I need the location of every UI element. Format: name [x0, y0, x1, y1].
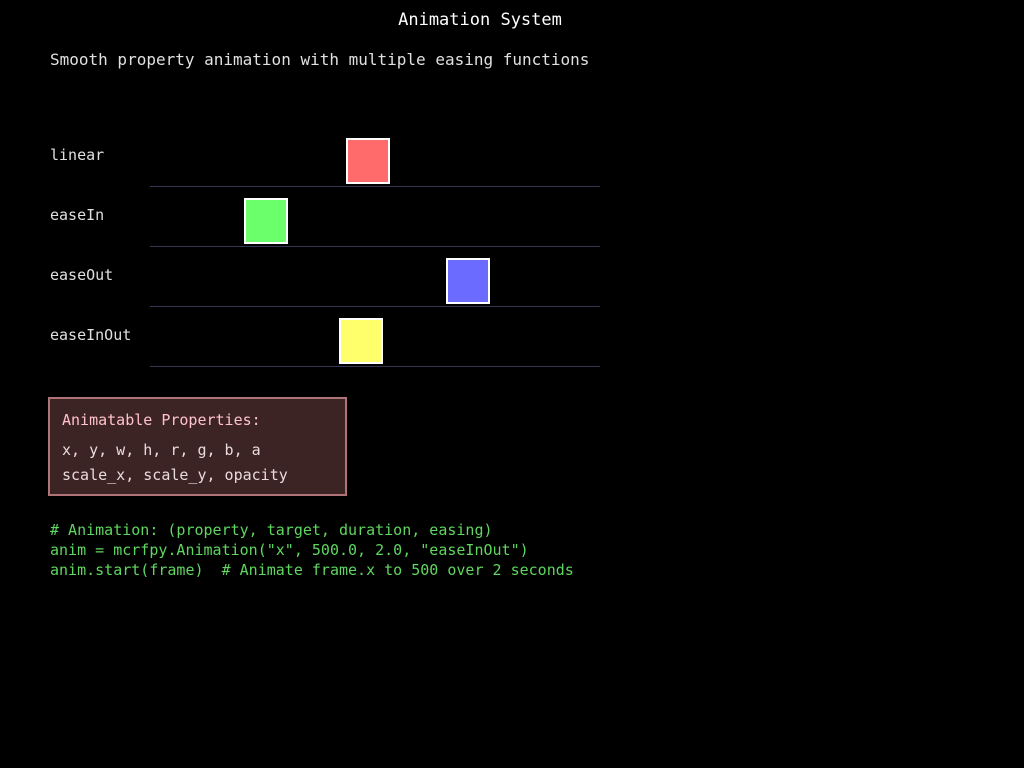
track-label: easeInOut — [50, 325, 131, 345]
track-baseline — [150, 306, 600, 307]
track-baseline — [150, 246, 600, 247]
animated-sprite — [446, 258, 490, 304]
page-title: Animation System — [0, 10, 960, 30]
animation-track-row: easeInOut — [0, 325, 1024, 385]
code-example: # Animation: (property, target, duration… — [50, 520, 574, 580]
track-label: easeIn — [50, 205, 104, 225]
animated-sprite — [346, 138, 390, 184]
track-baseline — [150, 366, 600, 367]
properties-panel-title: Animatable Properties: — [62, 410, 261, 430]
code-line: anim = mcrfpy.Animation("x", 500.0, 2.0,… — [50, 540, 574, 560]
code-line: anim.start(frame) # Animate frame.x to 5… — [50, 560, 574, 580]
track-label: easeOut — [50, 265, 113, 285]
animation-demo-stage: Animation System Smooth property animati… — [0, 0, 1024, 768]
code-line: # Animation: (property, target, duration… — [50, 520, 574, 540]
animatable-properties-panel: Animatable Properties: x, y, w, h, r, g,… — [48, 397, 347, 496]
properties-list-line-1: x, y, w, h, r, g, b, a — [62, 440, 261, 460]
properties-list-line-2: scale_x, scale_y, opacity — [62, 465, 288, 485]
page-subtitle: Smooth property animation with multiple … — [50, 50, 589, 70]
animated-sprite — [244, 198, 288, 244]
animation-track-row: linear — [0, 145, 1024, 205]
animation-track-row: easeIn — [0, 205, 1024, 265]
animation-track-row: easeOut — [0, 265, 1024, 325]
animated-sprite — [339, 318, 383, 364]
track-baseline — [150, 186, 600, 187]
track-label: linear — [50, 145, 104, 165]
